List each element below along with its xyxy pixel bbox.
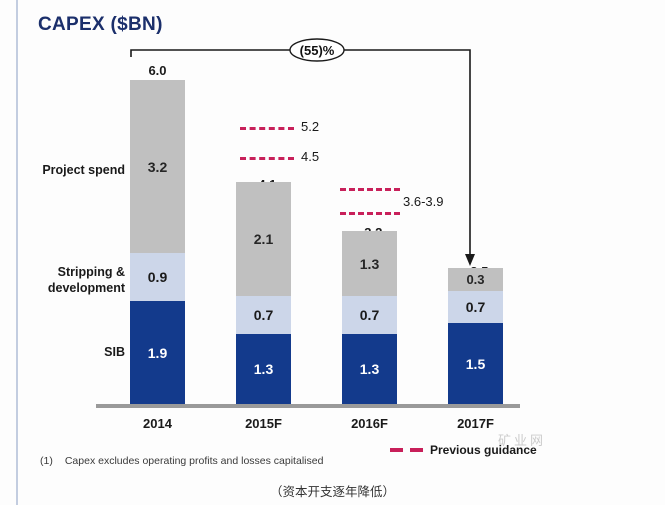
legend-dash-segment-1	[390, 448, 403, 452]
footnote-marker: (1)	[40, 455, 53, 467]
bar-2014[interactable]: 3.2 0.9 1.9	[130, 80, 185, 404]
series-label-sib: SIB	[10, 345, 125, 361]
footnote-text: Capex excludes operating profits and los…	[65, 455, 324, 467]
bar-segment-project-2016: 1.3	[342, 231, 397, 296]
bar-segment-sib-2017: 1.5	[448, 323, 503, 404]
legend-label-previous-guidance: Previous guidance	[430, 443, 537, 457]
change-percent-label: (55)%	[290, 39, 344, 61]
x-axis-label-2014: 2014	[130, 416, 185, 431]
slide-canvas: CAPEX ($BN) (55)% Project spend Strippin…	[0, 0, 665, 505]
series-label-project-spend: Project spend	[10, 163, 125, 179]
guidance-label-2015-high: 5.2	[301, 119, 319, 134]
stripping-line-2: development	[48, 281, 125, 295]
series-label-stripping-development: Stripping & development	[10, 265, 125, 296]
bar-segment-sib-2016: 1.3	[342, 334, 397, 404]
stripping-line-1: Stripping &	[58, 265, 125, 279]
bar-2017F[interactable]: 0.3 0.7 1.5	[448, 268, 503, 404]
bar-segment-project-2014: 3.2	[130, 80, 185, 253]
x-axis-label-2017F: 2017F	[448, 416, 503, 431]
bar-segment-stripping-2016: 0.7	[342, 296, 397, 334]
x-axis-baseline	[96, 404, 520, 408]
bar-2015F[interactable]: 2.1 0.7 1.3	[236, 182, 291, 404]
bar-segment-stripping-2017: 0.7	[448, 291, 503, 323]
x-axis-label-2016F: 2016F	[342, 416, 397, 431]
guidance-line-2015-high	[240, 127, 294, 130]
guidance-line-2015-low	[240, 157, 294, 160]
bar-2016F[interactable]: 1.3 0.7 1.3	[342, 231, 397, 404]
legend-dash-segment-2	[410, 448, 423, 452]
bar-segment-sib-2014: 1.9	[130, 301, 185, 404]
x-axis-label-2015F: 2015F	[236, 416, 291, 431]
bar-segment-stripping-2015: 0.7	[236, 296, 291, 334]
guidance-line-2016-low	[340, 212, 400, 215]
bar-segment-project-2017: 0.3	[448, 268, 503, 291]
bar-segment-project-2015: 2.1	[236, 182, 291, 296]
footnote: (1) Capex excludes operating profits and…	[40, 455, 323, 467]
guidance-label-2016-range: 3.6-3.9	[403, 194, 443, 209]
bar-segment-sib-2015: 1.3	[236, 334, 291, 404]
guidance-label-2015-low: 4.5	[301, 149, 319, 164]
guidance-line-2016-high	[340, 188, 400, 191]
legend: Previous guidance	[390, 443, 537, 457]
bar-total-2014: 6.0	[130, 63, 185, 78]
chinese-caption: （资本开支逐年降低）	[0, 481, 665, 500]
bar-segment-stripping-2014: 0.9	[130, 253, 185, 301]
